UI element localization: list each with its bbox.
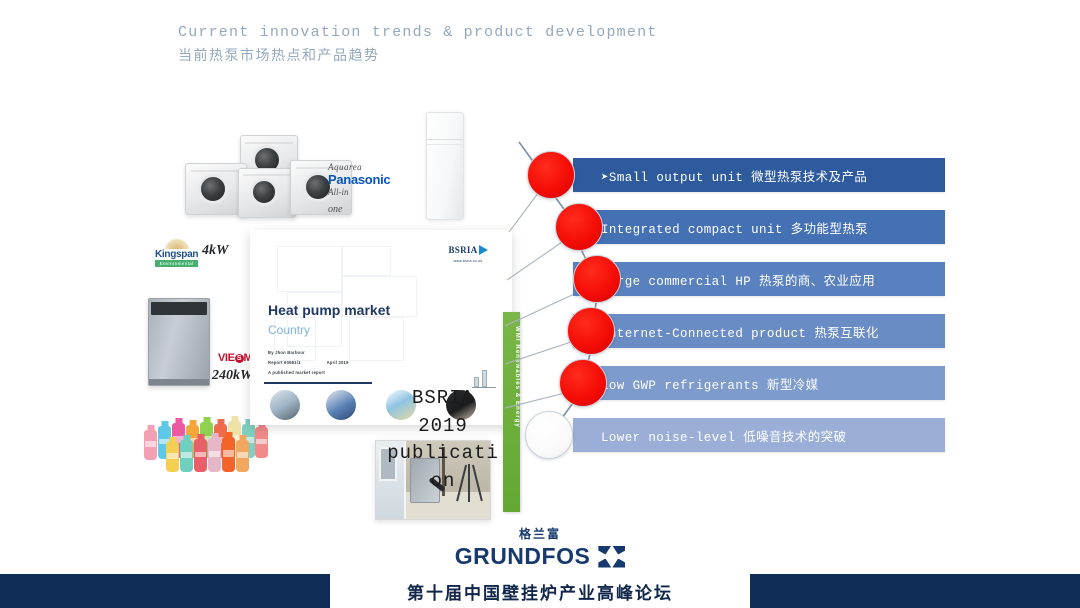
report-subtitle: Country (268, 323, 310, 337)
panasonic-logo: Aquarea Panasonic All-in one (328, 162, 420, 215)
grundfos-chinese-name: 格兰富 (519, 525, 561, 542)
kingspan-sub-label: Environmental (155, 260, 198, 267)
event-banner-center: 第十届中国壁挂炉产业高峰论坛 (330, 574, 750, 608)
bsria-publication-overlay: BSRIA 2019 publicati on (378, 385, 508, 495)
report-title: Heat pump market (268, 302, 390, 318)
bsria-logo: BSRIA www.bsria.co.uk (436, 240, 500, 263)
viessmann-capacity-label: 240kW (212, 368, 252, 384)
indoor-cylinder-unit-photo (426, 112, 464, 220)
report-author: By Jhon Barbour (268, 348, 349, 358)
kingspan-logo: Kingspan Environmental (155, 238, 198, 267)
panasonic-one-label: one (328, 204, 420, 215)
page-title-chinese: 当前热泵市场热点和产品趋势 (178, 45, 657, 65)
trend-bar[interactable]: Lower noise-level 低噪音技术的突破 (573, 418, 945, 452)
report-divider (264, 382, 372, 384)
trend-label: ➤Small output unit 微型热泵技术及产品 (573, 166, 867, 185)
overlay-line-2: 2019 (378, 413, 508, 441)
trend-bar[interactable]: Internet-Connected product 热泵互联化 (573, 314, 945, 348)
panasonic-brand-label: Panasonic (328, 172, 420, 187)
overlay-line-3: publicati (378, 440, 508, 468)
viessmann-dot-icon: S (235, 354, 244, 363)
report-number: Report 60681/1 (268, 358, 301, 368)
trend-label: Low GWP refrigerants 新型冷媒 (573, 374, 819, 393)
overlay-line-4: on (378, 468, 508, 496)
report-note: A published market report (268, 368, 349, 378)
outdoor-unit-photo (238, 168, 296, 218)
event-banner-title: 第十届中国壁挂炉产业高峰论坛 (407, 579, 673, 604)
grundfos-wordmark: GRUNDFOS (455, 543, 591, 570)
trend-node-marker[interactable] (555, 203, 603, 251)
panasonic-allin-label: All-in (328, 187, 420, 197)
grundfos-mark-icon (598, 546, 625, 568)
trend-node-marker[interactable] (559, 359, 607, 407)
trend-label: Lower noise-level 低噪音技术的突破 (573, 426, 846, 445)
report-date: April 2019 (327, 358, 349, 368)
trend-bar[interactable]: Large commercial HP 热泵的商、农业应用 (573, 262, 945, 296)
bsria-arrow-icon (479, 245, 488, 255)
trend-node-marker[interactable] (573, 255, 621, 303)
trend-label: Integrated compact unit 多功能型热泵 (573, 218, 868, 237)
viessmann-unit-photo (148, 298, 210, 386)
viessmann-name-part1: VIE (218, 352, 235, 364)
trend-node-marker[interactable] (525, 411, 573, 459)
bsria-logo-text: BSRIA (448, 245, 477, 255)
bsria-url-label: www.bsria.co.uk (436, 259, 500, 263)
report-thumb-photo (270, 390, 300, 420)
page-title-english: Current innovation trends & product deve… (178, 24, 657, 41)
trends-diagram: ➤Small output unit 微型热泵技术及产品 Integrated … (505, 140, 945, 470)
report-thumb-photo (326, 390, 356, 420)
kingspan-name-label: Kingspan (155, 249, 198, 260)
product-image-collage: Aquarea Panasonic All-in one Kingspan En… (130, 100, 530, 520)
panasonic-aquarea-label: Aquarea (328, 162, 420, 172)
slide-title-block: Current innovation trends & product deve… (178, 24, 657, 65)
event-banner: 第十届中国壁挂炉产业高峰论坛 (0, 574, 1080, 608)
trend-node-marker[interactable] (527, 151, 575, 199)
overlay-line-1: BSRIA (378, 385, 508, 413)
report-metadata: By Jhon Barbour Report 60681/1April 2019… (268, 348, 349, 378)
trend-bar[interactable]: ➤Small output unit 微型热泵技术及产品 (573, 158, 945, 192)
trend-bar[interactable]: Low GWP refrigerants 新型冷媒 (573, 366, 945, 400)
kingspan-swoosh-icon (164, 238, 190, 249)
trend-label: Internet-Connected product 热泵互联化 (573, 322, 879, 341)
grundfos-logo: 格兰富 GRUNDFOS (0, 526, 1080, 570)
trend-bar[interactable]: Integrated compact unit 多功能型热泵 (573, 210, 945, 244)
kingspan-capacity-label: 4kW (202, 243, 228, 259)
trend-node-marker[interactable] (567, 307, 615, 355)
